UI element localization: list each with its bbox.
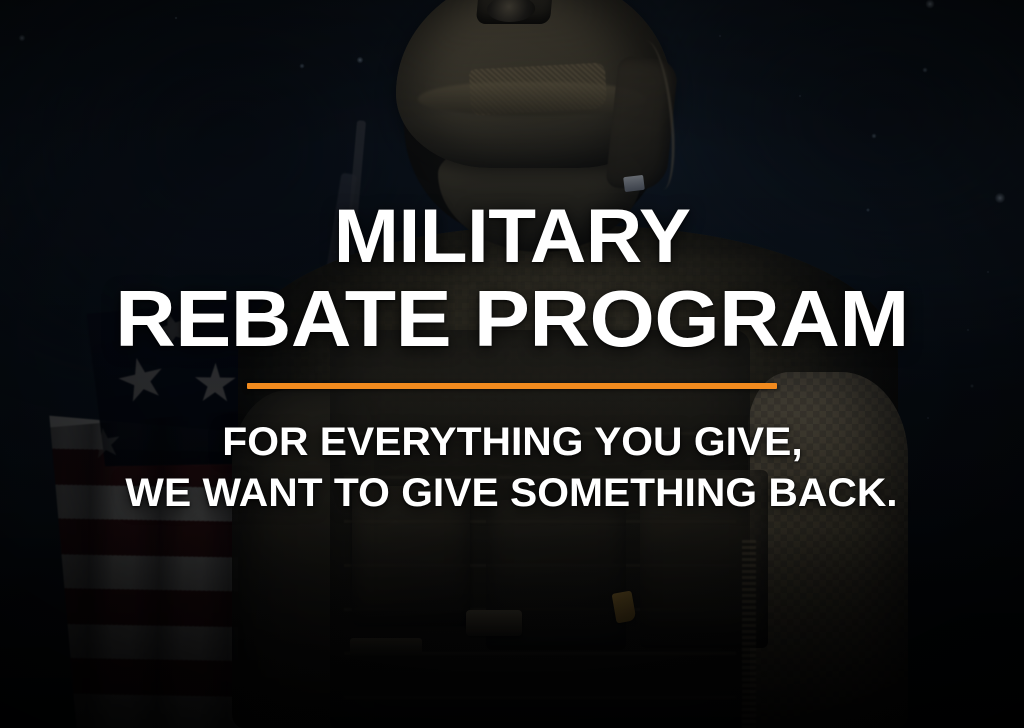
subheadline-line-1: FOR EVERYTHING YOU GIVE, bbox=[222, 421, 802, 464]
headline-line-1: MILITARY bbox=[334, 200, 691, 274]
banner-content: MILITARY REBATE PROGRAM FOR EVERYTHING Y… bbox=[0, 0, 1024, 728]
orange-divider-rule bbox=[247, 383, 777, 389]
subheadline-line-2: WE WANT TO GIVE SOMETHING BACK. bbox=[126, 472, 898, 515]
military-rebate-program-banner: MILITARY REBATE PROGRAM FOR EVERYTHING Y… bbox=[0, 0, 1024, 728]
headline-line-2: REBATE PROGRAM bbox=[115, 280, 909, 358]
